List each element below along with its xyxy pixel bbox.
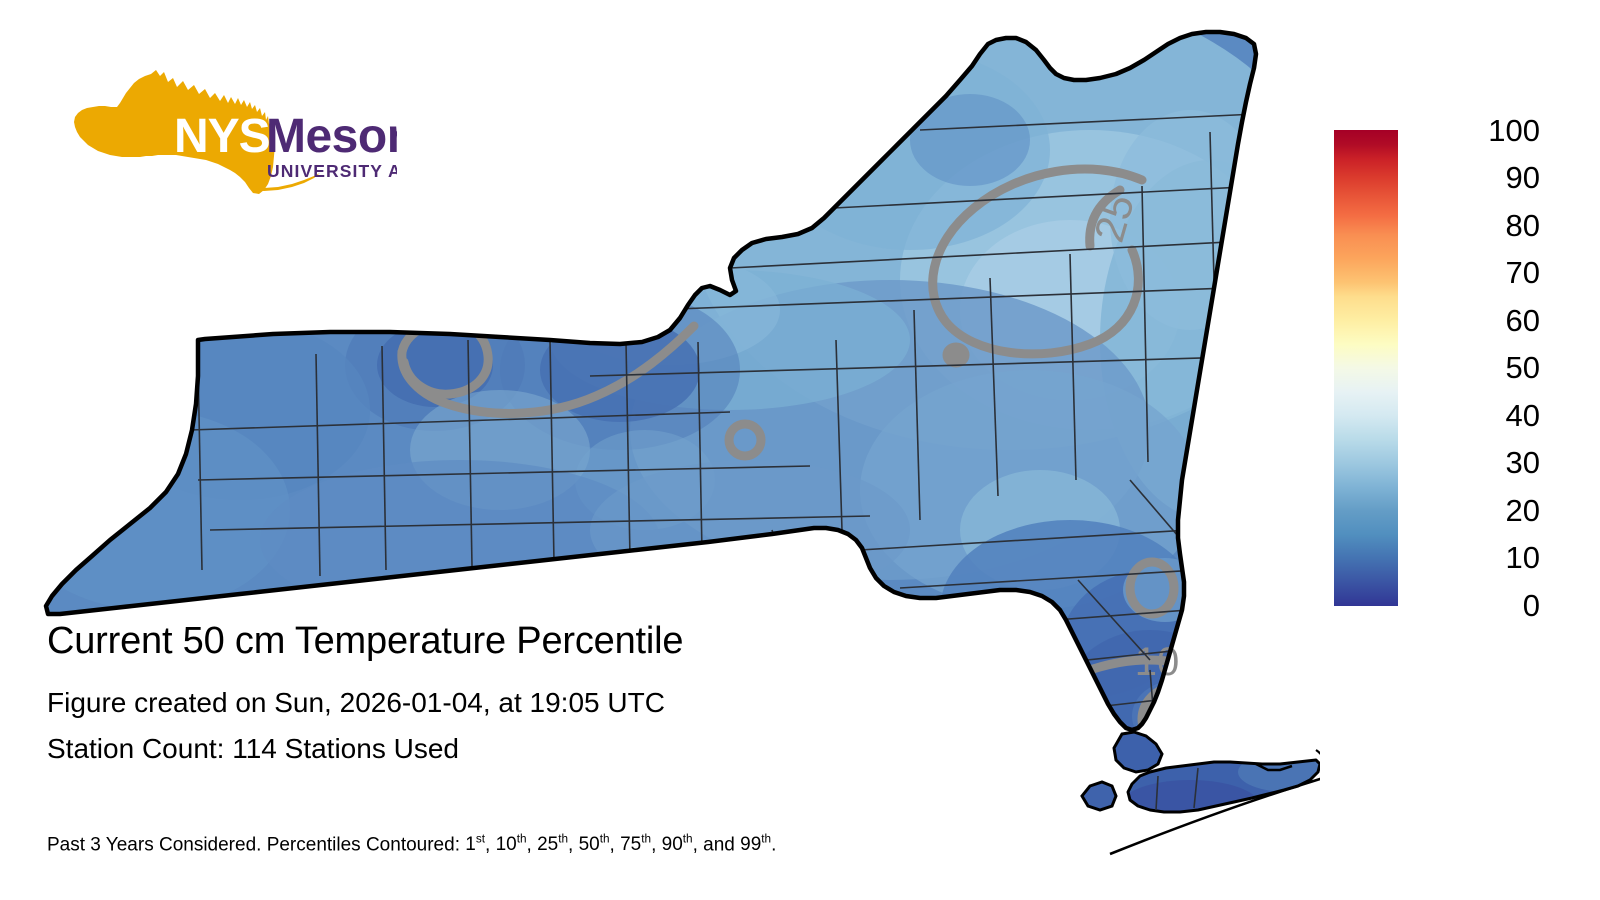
colorbar-tick-10: 10: [1410, 542, 1540, 573]
footnote-sep-3: ,: [568, 834, 579, 855]
fill-stl-cold: [910, 94, 1030, 186]
colorbar-tick-60: 60: [1410, 305, 1540, 336]
footnote-sep-4: ,: [610, 834, 621, 855]
colorbar-tick-90: 90: [1410, 162, 1540, 193]
nyc-fill: [1114, 732, 1162, 772]
colorbar-tick-100: 100: [1410, 115, 1540, 146]
staten-island-fill: [1082, 782, 1116, 810]
fill-north-mid: [30, 105, 100, 205]
footnote-sep-6: ,: [693, 834, 704, 855]
colorbar-gradient: [1334, 130, 1398, 606]
footnote-sep-1: ,: [485, 834, 496, 855]
created-timestamp: Figure created on Sun, 2026-01-04, at 19…: [47, 680, 1047, 726]
colorbar-tick-50: 50: [1410, 352, 1540, 383]
station-count: Station Count: 114 Stations Used: [47, 726, 1047, 772]
footnote-item-7: 99th: [740, 834, 771, 855]
footnote-item-3: 25th: [537, 834, 568, 855]
colorbar-tick-0: 0: [1410, 590, 1540, 621]
figure-canvas: NYS Mesonet UNIVERSITY AT ALBANY: [0, 0, 1600, 900]
contour-ring-southern: [603, 565, 623, 585]
footnote-suffix: .: [771, 834, 776, 855]
footnote-prefix: Past 3 Years Considered. Percentiles Con…: [47, 834, 465, 855]
footnote-item-6: 90th: [662, 834, 693, 855]
page-title: Current 50 cm Temperature Percentile: [47, 618, 1047, 664]
colorbar-tick-40: 40: [1410, 400, 1540, 431]
fill-southern-tier-east: [590, 460, 910, 600]
footnote: Past 3 Years Considered. Percentiles Con…: [47, 828, 776, 857]
colorbar-tick-20: 20: [1410, 495, 1540, 526]
footnote-item-2: 10th: [496, 834, 527, 855]
footnote-conjunction: and: [703, 834, 735, 855]
footnote-sep-2: ,: [527, 834, 538, 855]
footnote-item-5: 75th: [620, 834, 651, 855]
contour-dot-mohawk: [947, 347, 965, 363]
footnote-sep-5: ,: [651, 834, 662, 855]
colorbar-tick-70: 70: [1410, 257, 1540, 288]
footnote-item-4: 50th: [579, 834, 610, 855]
colorbar-tick-30: 30: [1410, 447, 1540, 478]
colorbar: [1334, 130, 1398, 606]
contour-dot-capital: [1190, 492, 1202, 502]
footnote-item-1: 1st: [465, 834, 485, 855]
fill-st-pocket: [600, 547, 680, 603]
figure-caption-block: Current 50 cm Temperature Percentile Fig…: [47, 618, 1047, 772]
colorbar-tick-80: 80: [1410, 210, 1540, 241]
